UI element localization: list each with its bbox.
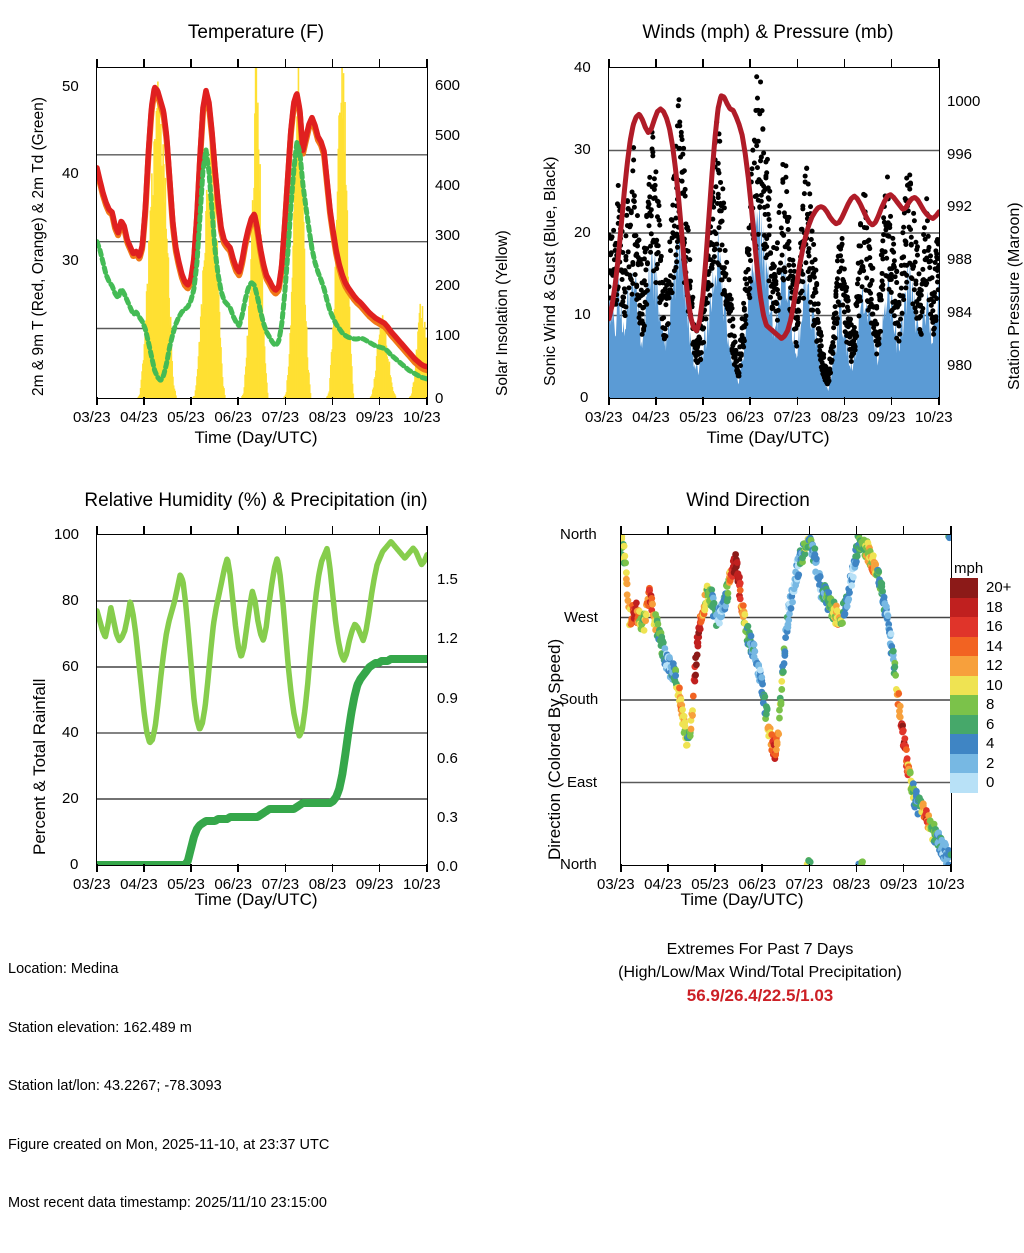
xtick-10-23: 10/23 — [403, 409, 441, 426]
humidity-ytick-60: 60 — [62, 658, 79, 675]
xtick-09-23: 09/23 — [356, 409, 394, 426]
wind-legend-label: 16 — [986, 618, 1003, 635]
panel-temperature: Temperature (F) 2m & 9m T (Red, Orange) … — [0, 0, 512, 460]
winds-rtick-980: 980 — [947, 357, 972, 374]
meta-latlon: Station lat/lon: 43.2267; -78.3093 — [8, 1077, 329, 1097]
winddir-ytick-north-top: North — [560, 526, 597, 543]
xtickmark — [285, 397, 287, 405]
extremes-value: 56.9/26.4/22.5/1.03 — [560, 984, 960, 1007]
xtick-04-23: 04/23 — [120, 876, 158, 893]
temperature-rtick-100: 100 — [435, 327, 460, 344]
wind-legend-swatch — [950, 656, 978, 676]
precip-rtick-06: 0.6 — [437, 750, 458, 767]
xtickmark — [655, 397, 657, 405]
xtick-08-23: 08/23 — [833, 876, 871, 893]
xtickmark — [950, 864, 952, 872]
wind-legend-label: 6 — [986, 716, 994, 733]
xtick-05-23: 05/23 — [167, 876, 205, 893]
winds-xlabel: Time (Day/UTC) — [512, 428, 1024, 448]
xtickmark-top — [332, 59, 334, 67]
precip-rtick-00: 0.0 — [437, 858, 458, 875]
xtickmark-top — [285, 526, 287, 534]
xtickmark-top — [379, 526, 381, 534]
xtickmark-top — [950, 526, 952, 534]
wind-legend-label: 12 — [986, 657, 1003, 674]
wind-legend-swatch — [950, 617, 978, 637]
winddir-ylabel: Direction (Colored By Speed) — [545, 639, 565, 860]
xtick-03-23: 03/23 — [73, 409, 111, 426]
temperature-xlabel: Time (Day/UTC) — [0, 428, 512, 448]
wind-legend-label: 2 — [986, 755, 994, 772]
panel-winds-pressure: Winds (mph) & Pressure (mb) Sonic Wind &… — [512, 0, 1024, 460]
xtick-04-23: 04/23 — [632, 409, 670, 426]
wind-legend-swatch — [950, 754, 978, 774]
xtickmark — [96, 397, 98, 405]
winddir-ytick-south: South — [559, 691, 598, 708]
xtickmark — [96, 864, 98, 872]
xtick-03-23: 03/23 — [73, 876, 111, 893]
xtickmark-top — [143, 59, 145, 67]
xtickmark-top — [237, 59, 239, 67]
xtick-03-23: 03/23 — [597, 876, 635, 893]
xtickmark-top — [285, 59, 287, 67]
xtickmark-top — [190, 59, 192, 67]
xtickmark-top — [702, 59, 704, 67]
xtickmark — [426, 864, 428, 872]
wind-legend-label: 10 — [986, 677, 1003, 694]
xtickmark — [237, 397, 239, 405]
xtickmark — [667, 864, 669, 872]
panel-humidity-precip: Relative Humidity (%) & Precipitation (i… — [0, 460, 512, 930]
temperature-ylabel-right: Solar Insolation (Yellow) — [494, 230, 512, 396]
winds-ytick-10: 10 — [574, 306, 591, 323]
temperature-ytick-30: 30 — [62, 252, 79, 269]
wind-legend-swatch — [950, 598, 978, 618]
xtickmark-top — [379, 59, 381, 67]
xtickmark — [761, 864, 763, 872]
winds-rtick-996: 996 — [947, 146, 972, 163]
xtickmark — [426, 397, 428, 405]
winds-rtick-1000: 1000 — [947, 93, 980, 110]
xtickmark — [620, 864, 622, 872]
meta-elevation: Station elevation: 162.489 m — [8, 1019, 329, 1039]
xtickmark-top — [938, 59, 940, 67]
xtick-03-23: 03/23 — [585, 409, 623, 426]
humidity-ytick-20: 20 — [62, 790, 79, 807]
winds-ytick-30: 30 — [574, 141, 591, 158]
temperature-plot-area — [96, 67, 428, 399]
xtickmark — [379, 397, 381, 405]
xtickmark-top — [714, 526, 716, 534]
xtick-06-23: 06/23 — [214, 876, 252, 893]
xtickmark — [190, 864, 192, 872]
humidity-ytick-100: 100 — [54, 526, 79, 543]
temperature-rtick-0: 0 — [435, 390, 443, 407]
winds-rtick-984: 984 — [947, 304, 972, 321]
wind-legend-swatch — [950, 578, 978, 598]
xtickmark-top — [96, 526, 98, 534]
wind-legend-title: mph — [954, 560, 983, 577]
xtick-04-23: 04/23 — [120, 409, 158, 426]
xtick-05-23: 05/23 — [679, 409, 717, 426]
temperature-rtick-400: 400 — [435, 177, 460, 194]
xtickmark — [844, 397, 846, 405]
xtickmark — [379, 864, 381, 872]
xtick-10-23: 10/23 — [915, 409, 953, 426]
wind-legend-swatch — [950, 773, 978, 793]
humidity-ytick-0: 0 — [70, 856, 78, 873]
xtickmark-top — [667, 526, 669, 534]
xtickmark-top — [655, 59, 657, 67]
winds-ylabel-left: Sonic Wind & Gust (Blue, Black) — [542, 157, 560, 386]
humidity-plot-area — [96, 534, 428, 866]
xtickmark-top — [426, 526, 428, 534]
xtickmark-top — [608, 59, 610, 67]
temperature-rtick-500: 500 — [435, 127, 460, 144]
xtick-08-23: 08/23 — [821, 409, 859, 426]
wind-legend-swatch — [950, 715, 978, 735]
temperature-svg — [97, 68, 427, 398]
winds-ytick-40: 40 — [574, 59, 591, 76]
humidity-ytick-40: 40 — [62, 724, 79, 741]
xtickmark — [749, 397, 751, 405]
xtickmark — [891, 397, 893, 405]
winds-ytick-0: 0 — [580, 389, 588, 406]
xtickmark-top — [190, 526, 192, 534]
xtick-07-23: 07/23 — [786, 876, 824, 893]
xtick-06-23: 06/23 — [738, 876, 776, 893]
wind-legend-swatch — [950, 734, 978, 754]
winds-rtick-988: 988 — [947, 251, 972, 268]
humidity-svg — [97, 535, 427, 865]
xtick-07-23: 07/23 — [262, 876, 300, 893]
humidity-ytick-80: 80 — [62, 592, 79, 609]
xtickmark-top — [237, 526, 239, 534]
xtickmark-top — [797, 59, 799, 67]
xtick-09-23: 09/23 — [356, 876, 394, 893]
wind-legend-label: 8 — [986, 696, 994, 713]
winddir-xlabel: Time (Day/UTC) — [512, 890, 972, 910]
humidity-xlabel: Time (Day/UTC) — [0, 890, 512, 910]
xtick-06-23: 06/23 — [214, 409, 252, 426]
xtick-04-23: 04/23 — [644, 876, 682, 893]
xtick-10-23: 10/23 — [403, 876, 441, 893]
xtick-07-23: 07/23 — [774, 409, 812, 426]
xtickmark — [938, 397, 940, 405]
xtickmark-top — [903, 526, 905, 534]
xtickmark-top — [809, 526, 811, 534]
xtickmark-top — [620, 526, 622, 534]
panel-temperature-title: Temperature (F) — [0, 22, 512, 44]
extremes-subheading: (High/Low/Max Wind/Total Precipitation) — [560, 961, 960, 984]
xtickmark — [332, 864, 334, 872]
panel-winds-title: Winds (mph) & Pressure (mb) — [512, 22, 1024, 44]
winds-ytick-20: 20 — [574, 224, 591, 241]
xtickmark — [714, 864, 716, 872]
winds-ylabel-right: Station Pressure (Maroon) — [1006, 202, 1024, 390]
winds-svg — [609, 68, 939, 398]
wind-legend-swatch — [950, 695, 978, 715]
station-metadata: Location: Medina Station elevation: 162.… — [8, 921, 329, 1253]
xtickmark-top — [143, 526, 145, 534]
winds-plot-area — [608, 67, 940, 399]
xtickmark — [809, 864, 811, 872]
temperature-rtick-300: 300 — [435, 227, 460, 244]
temperature-rtick-600: 600 — [435, 77, 460, 94]
weather-dashboard: Temperature (F) 2m & 9m T (Red, Orange) … — [0, 0, 1024, 1024]
panel-humidity-title: Relative Humidity (%) & Precipitation (i… — [0, 490, 512, 512]
xtickmark-top — [96, 59, 98, 67]
xtickmark — [143, 397, 145, 405]
wind-legend-label: 20+ — [986, 579, 1011, 596]
xtick-07-23: 07/23 — [262, 409, 300, 426]
winddir-svg — [621, 535, 951, 865]
xtickmark-top — [856, 526, 858, 534]
xtickmark-top — [891, 59, 893, 67]
wind-legend-swatch — [950, 676, 978, 696]
meta-timestamp: Most recent data timestamp: 2025/11/10 2… — [8, 1194, 329, 1214]
panel-wind-direction-title: Wind Direction — [492, 490, 1004, 512]
precip-rtick-09: 0.9 — [437, 690, 458, 707]
winddir-ytick-north-bottom: North — [560, 856, 597, 873]
xtickmark — [702, 397, 704, 405]
xtickmark — [797, 397, 799, 405]
precip-rtick-15: 1.5 — [437, 571, 458, 588]
xtick-08-23: 08/23 — [309, 409, 347, 426]
xtickmark-top — [749, 59, 751, 67]
humidity-ylabel-left: Percent & Total Rainfall — [30, 679, 50, 855]
wind-legend-label: 0 — [986, 774, 994, 791]
xtick-10-23: 10/23 — [927, 876, 965, 893]
xtick-06-23: 06/23 — [726, 409, 764, 426]
wind-legend-label: 4 — [986, 735, 994, 752]
xtick-05-23: 05/23 — [167, 409, 205, 426]
meta-created: Figure created on Mon, 2025-11-10, at 23… — [8, 1136, 329, 1156]
xtickmark-top — [761, 526, 763, 534]
wind-legend-label: 14 — [986, 638, 1003, 655]
temperature-rtick-200: 200 — [435, 277, 460, 294]
extremes-heading: Extremes For Past 7 Days — [560, 938, 960, 961]
temperature-ytick-40: 40 — [62, 165, 79, 182]
xtickmark-top — [332, 526, 334, 534]
xtickmark — [856, 864, 858, 872]
xtick-05-23: 05/23 — [691, 876, 729, 893]
xtick-09-23: 09/23 — [868, 409, 906, 426]
xtickmark — [190, 397, 192, 405]
xtick-09-23: 09/23 — [880, 876, 918, 893]
xtickmark — [332, 397, 334, 405]
temperature-ylabel-left: 2m & 9m T (Red, Orange) & 2m Td (Green) — [30, 97, 48, 396]
panel-wind-direction: Wind Direction Direction (Colored By Spe… — [512, 460, 1024, 930]
winddir-ytick-east: East — [567, 774, 597, 791]
wind-legend-swatch — [950, 637, 978, 657]
xtick-08-23: 08/23 — [309, 876, 347, 893]
xtickmark — [903, 864, 905, 872]
wind-legend-label: 18 — [986, 599, 1003, 616]
xtickmark — [285, 864, 287, 872]
xtickmark — [237, 864, 239, 872]
winddir-plot-area — [620, 534, 952, 866]
winddir-ytick-west: West — [564, 609, 598, 626]
meta-location: Location: Medina — [8, 960, 329, 980]
xtickmark-top — [844, 59, 846, 67]
xtickmark-top — [426, 59, 428, 67]
xtickmark — [143, 864, 145, 872]
extremes-block: Extremes For Past 7 Days (High/Low/Max W… — [560, 938, 960, 1007]
precip-rtick-12: 1.2 — [437, 630, 458, 647]
xtickmark — [608, 397, 610, 405]
precip-rtick-03: 0.3 — [437, 809, 458, 826]
temperature-ytick-50: 50 — [62, 78, 79, 95]
winds-rtick-992: 992 — [947, 198, 972, 215]
